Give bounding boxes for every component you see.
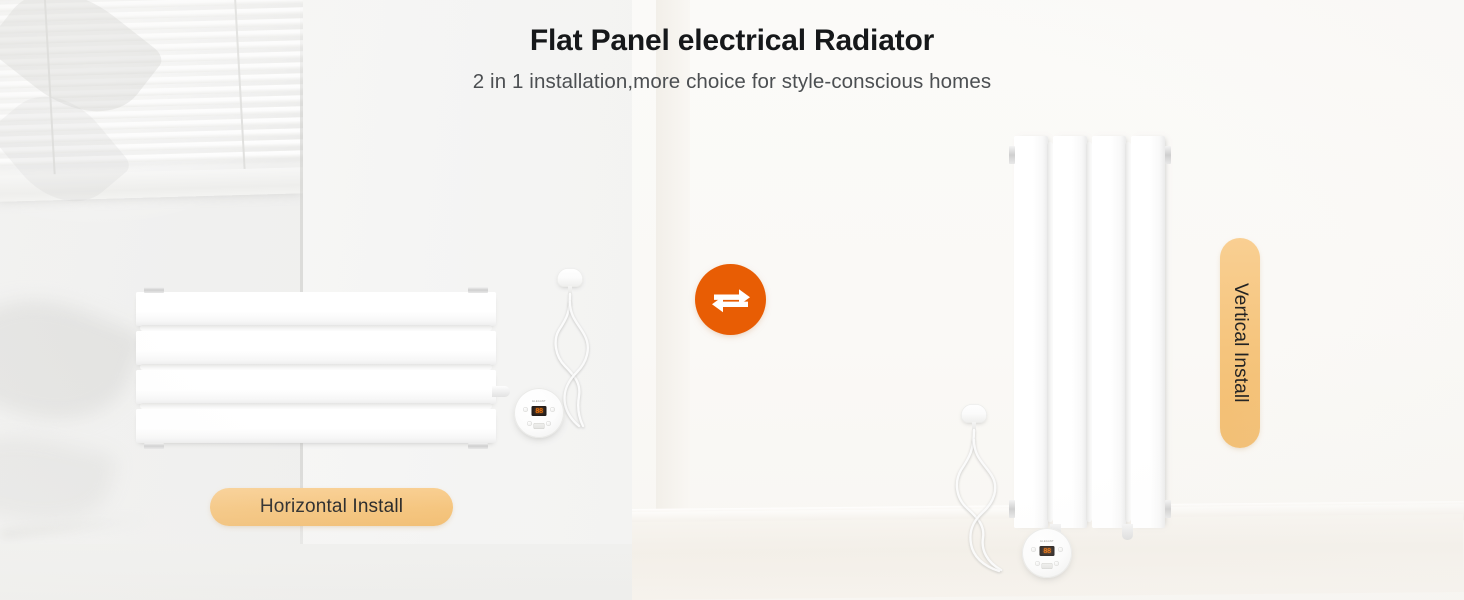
power-cord xyxy=(557,268,627,428)
radiator-panel xyxy=(136,292,496,326)
radiator-mount-bracket xyxy=(144,287,164,293)
thermostat-button[interactable] xyxy=(1031,547,1036,552)
thermostat-control-vertical[interactable]: ELEGANT 88 xyxy=(1022,528,1072,578)
thermostat-control-horizontal[interactable]: ELEGANT 88 xyxy=(514,388,564,438)
thermostat-button[interactable] xyxy=(527,421,532,426)
product-banner: Flat Panel electrical Radiator 2 in 1 in… xyxy=(0,0,1464,600)
radiator-nozzle xyxy=(492,386,510,397)
radiator-mount-bracket xyxy=(1165,146,1171,164)
radiator-panel xyxy=(136,409,496,443)
thermostat-button[interactable] xyxy=(523,407,528,412)
radiator-mount-bracket xyxy=(468,287,488,293)
radiator-panel xyxy=(1131,136,1165,528)
badge-vertical-install: Vertical Install xyxy=(1220,238,1260,448)
swap-orientation-button[interactable] xyxy=(695,264,766,335)
wall-edge xyxy=(656,0,690,512)
thermostat-button[interactable] xyxy=(1035,561,1040,566)
thermostat-display: 88 xyxy=(532,406,547,416)
radiator-mount-bracket xyxy=(468,443,488,449)
radiator-mount-bracket xyxy=(1009,146,1015,164)
radiator-panel xyxy=(136,331,496,365)
radiator-mount-bracket xyxy=(1165,500,1171,518)
badge-vertical-label: Vertical Install xyxy=(1229,283,1251,403)
radiator-panel xyxy=(1092,136,1126,528)
radiator-mount-bracket xyxy=(144,443,164,449)
thermostat-button[interactable] xyxy=(1058,547,1063,552)
swap-horizontal-arrows-icon xyxy=(710,287,752,313)
thermostat-brand: ELEGANT xyxy=(532,400,546,403)
radiator-panel xyxy=(136,370,496,404)
thermostat-brand: ELEGANT xyxy=(1040,540,1054,543)
thermostat-display-value: 88 xyxy=(1043,548,1050,555)
plant-leaf-shadow xyxy=(0,273,146,448)
thermostat-button[interactable] xyxy=(546,421,551,426)
thermostat-button[interactable] xyxy=(550,407,555,412)
radiator-nozzle xyxy=(1122,524,1133,540)
thermostat-button[interactable] xyxy=(1054,561,1059,566)
badge-horizontal-install: Horizontal Install xyxy=(210,488,453,526)
thermostat-port xyxy=(534,423,545,429)
thermostat-display: 88 xyxy=(1040,546,1055,556)
badge-horizontal-label: Horizontal Install xyxy=(260,496,403,518)
horizontal-radiator xyxy=(136,292,496,444)
thermostat-display-value: 88 xyxy=(535,408,542,415)
thermostat-port xyxy=(1042,563,1053,569)
radiator-panel xyxy=(1053,136,1087,528)
floor-left xyxy=(0,544,632,600)
